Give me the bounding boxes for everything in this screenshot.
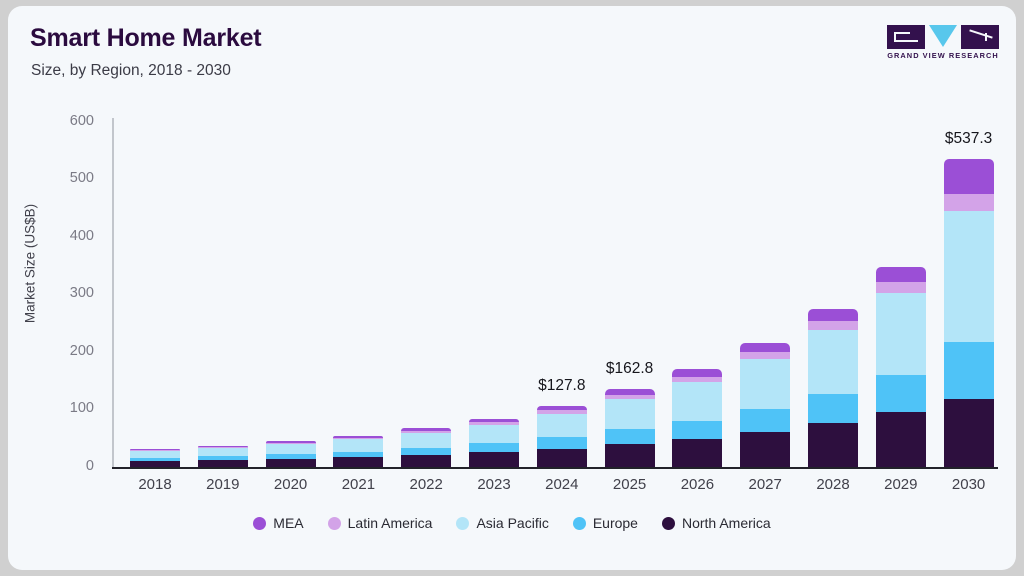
bar-segment-north-america[interactable] xyxy=(944,399,994,468)
chart-card: Smart Home Market Size, by Region, 2018 … xyxy=(8,6,1016,570)
bar-segment-latin-america[interactable] xyxy=(944,194,994,210)
bar-segment-asia-pacific[interactable] xyxy=(537,414,587,438)
x-tick-label: 2025 xyxy=(595,476,665,493)
x-tick-label: 2029 xyxy=(866,476,936,493)
bar-segment-europe[interactable] xyxy=(401,448,451,455)
stacked-bar-chart: Market Size (US$B) 0100200300400500600 2… xyxy=(8,6,1016,570)
bar-segment-mea[interactable] xyxy=(876,267,926,282)
bar-segment-mea[interactable] xyxy=(198,446,248,448)
bar-segment-asia-pacific[interactable] xyxy=(605,399,655,430)
bar-segment-asia-pacific[interactable] xyxy=(266,444,316,454)
y-axis-line xyxy=(112,118,114,468)
legend-swatch-icon xyxy=(456,517,469,530)
bar-value-label-2030: $537.3 xyxy=(914,130,1016,148)
bar-segment-asia-pacific[interactable] xyxy=(740,359,790,409)
bar-value-label-2025: $162.8 xyxy=(575,360,685,378)
legend-item-europe[interactable]: Europe xyxy=(573,515,638,531)
x-tick-label: 2028 xyxy=(798,476,868,493)
bar-segment-latin-america[interactable] xyxy=(740,352,790,359)
bar-segment-europe[interactable] xyxy=(740,409,790,432)
y-axis-title: Market Size (US$B) xyxy=(23,174,38,354)
bar-segment-europe[interactable] xyxy=(876,375,926,412)
x-tick-label: 2018 xyxy=(120,476,190,493)
legend-label: MEA xyxy=(273,515,303,531)
y-tick-label: 100 xyxy=(38,400,94,416)
bar-segment-north-america[interactable] xyxy=(537,449,587,468)
bar-segment-north-america[interactable] xyxy=(130,461,180,467)
bar-segment-north-america[interactable] xyxy=(808,423,858,467)
bar-segment-asia-pacific[interactable] xyxy=(198,448,248,456)
bar-segment-europe[interactable] xyxy=(944,342,994,399)
bar-2024[interactable] xyxy=(537,6,587,468)
bar-segment-latin-america[interactable] xyxy=(876,282,926,293)
bar-segment-europe[interactable] xyxy=(537,437,587,448)
legend-label: North America xyxy=(682,515,771,531)
bar-segment-asia-pacific[interactable] xyxy=(944,211,994,342)
bar-segment-latin-america[interactable] xyxy=(605,395,655,399)
bar-segment-latin-america[interactable] xyxy=(266,443,316,444)
bar-2030[interactable] xyxy=(944,6,994,468)
bar-2022[interactable] xyxy=(401,6,451,468)
chart-legend: MEALatin AmericaAsia PacificEuropeNorth … xyxy=(8,515,1016,531)
bar-value-label-2024: $127.8 xyxy=(507,377,617,395)
bar-segment-mea[interactable] xyxy=(333,436,383,438)
x-tick-label: 2026 xyxy=(662,476,732,493)
bar-segment-mea[interactable] xyxy=(469,419,519,422)
bar-segment-asia-pacific[interactable] xyxy=(876,293,926,375)
bar-segment-asia-pacific[interactable] xyxy=(333,439,383,451)
bar-segment-europe[interactable] xyxy=(130,458,180,461)
bar-segment-asia-pacific[interactable] xyxy=(672,382,722,421)
legend-swatch-icon xyxy=(253,517,266,530)
bar-2018[interactable] xyxy=(130,6,180,468)
bar-2027[interactable] xyxy=(740,6,790,468)
legend-swatch-icon xyxy=(573,517,586,530)
bar-2028[interactable] xyxy=(808,6,858,468)
bar-segment-latin-america[interactable] xyxy=(469,422,519,425)
bar-segment-north-america[interactable] xyxy=(198,460,248,467)
bar-2029[interactable] xyxy=(876,6,926,468)
bar-segment-latin-america[interactable] xyxy=(808,321,858,330)
y-tick-label: 200 xyxy=(38,343,94,359)
bar-segment-mea[interactable] xyxy=(808,309,858,321)
x-tick-label: 2030 xyxy=(934,476,1004,493)
bar-segment-europe[interactable] xyxy=(333,452,383,458)
bar-2020[interactable] xyxy=(266,6,316,468)
bar-segment-north-america[interactable] xyxy=(672,439,722,468)
bar-segment-north-america[interactable] xyxy=(876,412,926,467)
legend-item-north-america[interactable]: North America xyxy=(662,515,771,531)
bar-segment-europe[interactable] xyxy=(672,421,722,439)
bar-segment-latin-america[interactable] xyxy=(198,447,248,448)
bar-segment-mea[interactable] xyxy=(944,159,994,194)
legend-swatch-icon xyxy=(662,517,675,530)
y-tick-label: 500 xyxy=(38,170,94,186)
x-tick-label: 2024 xyxy=(527,476,597,493)
bar-segment-north-america[interactable] xyxy=(740,432,790,468)
legend-label: Europe xyxy=(593,515,638,531)
bar-segment-europe[interactable] xyxy=(808,394,858,423)
bar-segment-europe[interactable] xyxy=(266,454,316,459)
legend-item-latin-america[interactable]: Latin America xyxy=(328,515,433,531)
bar-2026[interactable] xyxy=(672,6,722,468)
bar-2019[interactable] xyxy=(198,6,248,468)
bar-segment-europe[interactable] xyxy=(198,456,248,460)
y-tick-label: 400 xyxy=(38,228,94,244)
bar-segment-latin-america[interactable] xyxy=(333,438,383,440)
bar-segment-latin-america[interactable] xyxy=(130,450,180,451)
x-tick-label: 2020 xyxy=(256,476,326,493)
bar-segment-asia-pacific[interactable] xyxy=(130,451,180,458)
x-tick-label: 2021 xyxy=(323,476,393,493)
x-tick-label: 2022 xyxy=(391,476,461,493)
bar-segment-north-america[interactable] xyxy=(401,455,451,467)
legend-item-mea[interactable]: MEA xyxy=(253,515,303,531)
bar-2025[interactable] xyxy=(605,6,655,468)
bar-segment-north-america[interactable] xyxy=(605,444,655,468)
legend-label: Asia Pacific xyxy=(476,515,548,531)
bar-segment-asia-pacific[interactable] xyxy=(808,330,858,394)
y-tick-label: 0 xyxy=(38,458,94,474)
bar-2021[interactable] xyxy=(333,6,383,468)
bar-segment-north-america[interactable] xyxy=(469,452,519,467)
y-tick-label: 600 xyxy=(38,113,94,129)
bar-segment-mea[interactable] xyxy=(266,441,316,443)
x-tick-label: 2019 xyxy=(188,476,258,493)
bar-segment-mea[interactable] xyxy=(537,406,587,410)
y-tick-label: 300 xyxy=(38,285,94,301)
bar-segment-latin-america[interactable] xyxy=(537,410,587,413)
bar-segment-mea[interactable] xyxy=(401,428,451,431)
bar-segment-asia-pacific[interactable] xyxy=(469,425,519,444)
legend-label: Latin America xyxy=(348,515,433,531)
bar-segment-north-america[interactable] xyxy=(266,459,316,467)
bar-segment-mea[interactable] xyxy=(130,449,180,450)
legend-swatch-icon xyxy=(328,517,341,530)
bar-segment-europe[interactable] xyxy=(605,429,655,443)
bar-segment-latin-america[interactable] xyxy=(401,431,451,433)
bar-2023[interactable] xyxy=(469,6,519,468)
bar-segment-mea[interactable] xyxy=(740,343,790,352)
legend-item-asia-pacific[interactable]: Asia Pacific xyxy=(456,515,548,531)
bar-segment-europe[interactable] xyxy=(469,443,519,452)
bar-segment-asia-pacific[interactable] xyxy=(401,433,451,448)
bar-segment-north-america[interactable] xyxy=(333,457,383,467)
x-tick-label: 2027 xyxy=(730,476,800,493)
x-tick-label: 2023 xyxy=(459,476,529,493)
